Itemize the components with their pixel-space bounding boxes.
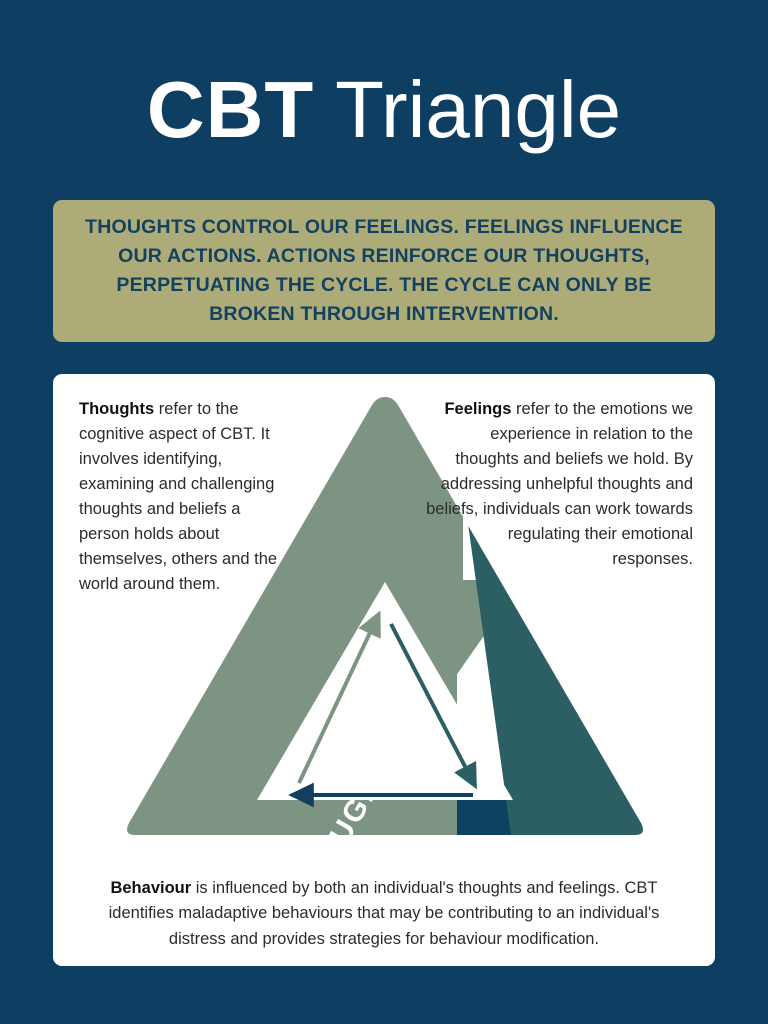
page-title-light: Triangle xyxy=(314,65,621,154)
blurb-feelings-lead: Feelings xyxy=(444,400,511,418)
summary-banner: Thoughts control our feelings. Feelings … xyxy=(53,200,715,342)
blurb-behaviour-body: is influenced by both an individual's th… xyxy=(109,879,660,948)
blurb-feelings: Feelings refer to the emotions we experi… xyxy=(423,397,693,572)
blurb-thoughts-lead: Thoughts xyxy=(79,400,154,418)
blurb-behaviour: Behaviour is influenced by both an indiv… xyxy=(83,876,685,953)
blurb-feelings-body: refer to the emotions we experience in r… xyxy=(426,400,693,568)
blurb-thoughts-body: refer to the cognitive aspect of CBT. It… xyxy=(79,400,277,593)
page-title-bold: CBT xyxy=(147,65,314,154)
blurb-thoughts: Thoughts refer to the cognitive aspect o… xyxy=(79,397,284,597)
content-card: THOUGHTS FEELINGS BEHAVIOURS Thoughts re… xyxy=(53,374,715,966)
page-title: CBT Triangle xyxy=(0,62,768,158)
cycle-arrows xyxy=(299,622,473,795)
arrow-behaviours-to-thoughts xyxy=(299,622,375,783)
arrow-thoughts-to-feelings xyxy=(391,624,471,778)
blurb-behaviour-lead: Behaviour xyxy=(110,879,191,897)
summary-banner-text: Thoughts control our feelings. Feelings … xyxy=(53,213,715,329)
